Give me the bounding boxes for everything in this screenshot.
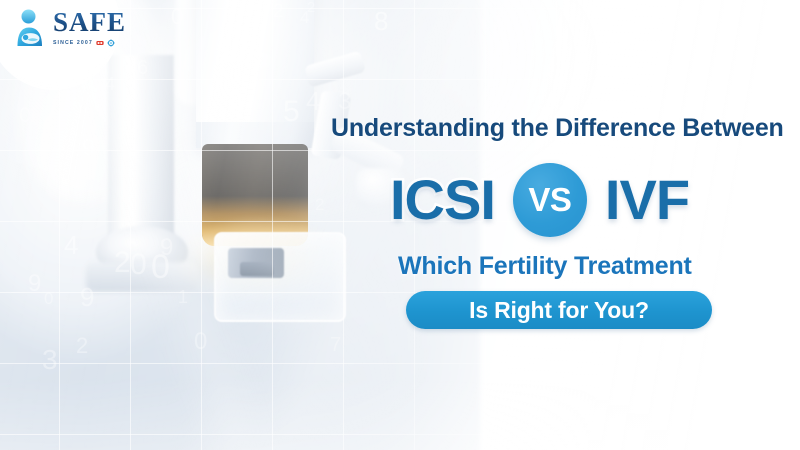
versus-label: VS xyxy=(528,183,571,216)
mother-and-baby-icon xyxy=(14,8,48,48)
background-number: 2 xyxy=(307,0,315,15)
promo-banner: 024288543640942009990102372 S xyxy=(0,0,800,450)
cta-pill-button[interactable]: Is Right for You? xyxy=(406,291,712,329)
background-number: 2 xyxy=(315,196,324,213)
brand-logo[interactable]: SAFE SINCE 2007 xyxy=(14,8,126,48)
term-icsi: ICSI xyxy=(390,172,495,228)
background-number: 9 xyxy=(80,284,94,310)
background-number: 4 xyxy=(105,75,115,93)
brand-name: SAFE xyxy=(53,9,126,36)
brand-tagline-row: SINCE 2007 xyxy=(53,39,126,47)
background-number: 8 xyxy=(228,86,244,114)
background-number: 1 xyxy=(178,288,188,306)
background-number: 3 xyxy=(42,346,58,374)
ribbon-icon xyxy=(96,39,104,47)
background-number: 0 xyxy=(44,290,53,307)
background-number: 3 xyxy=(338,90,351,114)
background-number: 5 xyxy=(283,97,300,127)
term-ivf: IVF xyxy=(605,172,689,228)
gear-icon xyxy=(107,39,115,47)
background-number: 0 xyxy=(130,250,147,280)
background-number: 8 xyxy=(374,8,388,34)
cta-label: Is Right for You? xyxy=(469,299,649,322)
background-number: 4 xyxy=(306,88,320,114)
background-number: 0 xyxy=(194,330,207,354)
background-number: 0 xyxy=(171,6,183,28)
headline-line-1: Understanding the Difference Between xyxy=(331,114,784,143)
background-number: 2 xyxy=(114,248,131,278)
background-number: 9 xyxy=(160,236,173,260)
background-number: 9 xyxy=(28,272,41,296)
headline-line-3: Which Fertility Treatment xyxy=(398,252,692,281)
versus-badge: VS xyxy=(513,163,587,237)
background-number: 0 xyxy=(19,105,31,126)
background-number: 2 xyxy=(76,335,88,357)
background-number: 9 xyxy=(82,136,95,159)
background-number: 7 xyxy=(330,335,341,355)
background-number: 4 xyxy=(64,232,78,258)
brand-wordmark: SAFE SINCE 2007 xyxy=(53,9,126,47)
background-number: 6 xyxy=(137,58,148,78)
brand-tagline: SINCE 2007 xyxy=(53,40,93,46)
background-number: 2 xyxy=(273,2,284,21)
versus-row: ICSI VS IVF xyxy=(390,163,689,237)
